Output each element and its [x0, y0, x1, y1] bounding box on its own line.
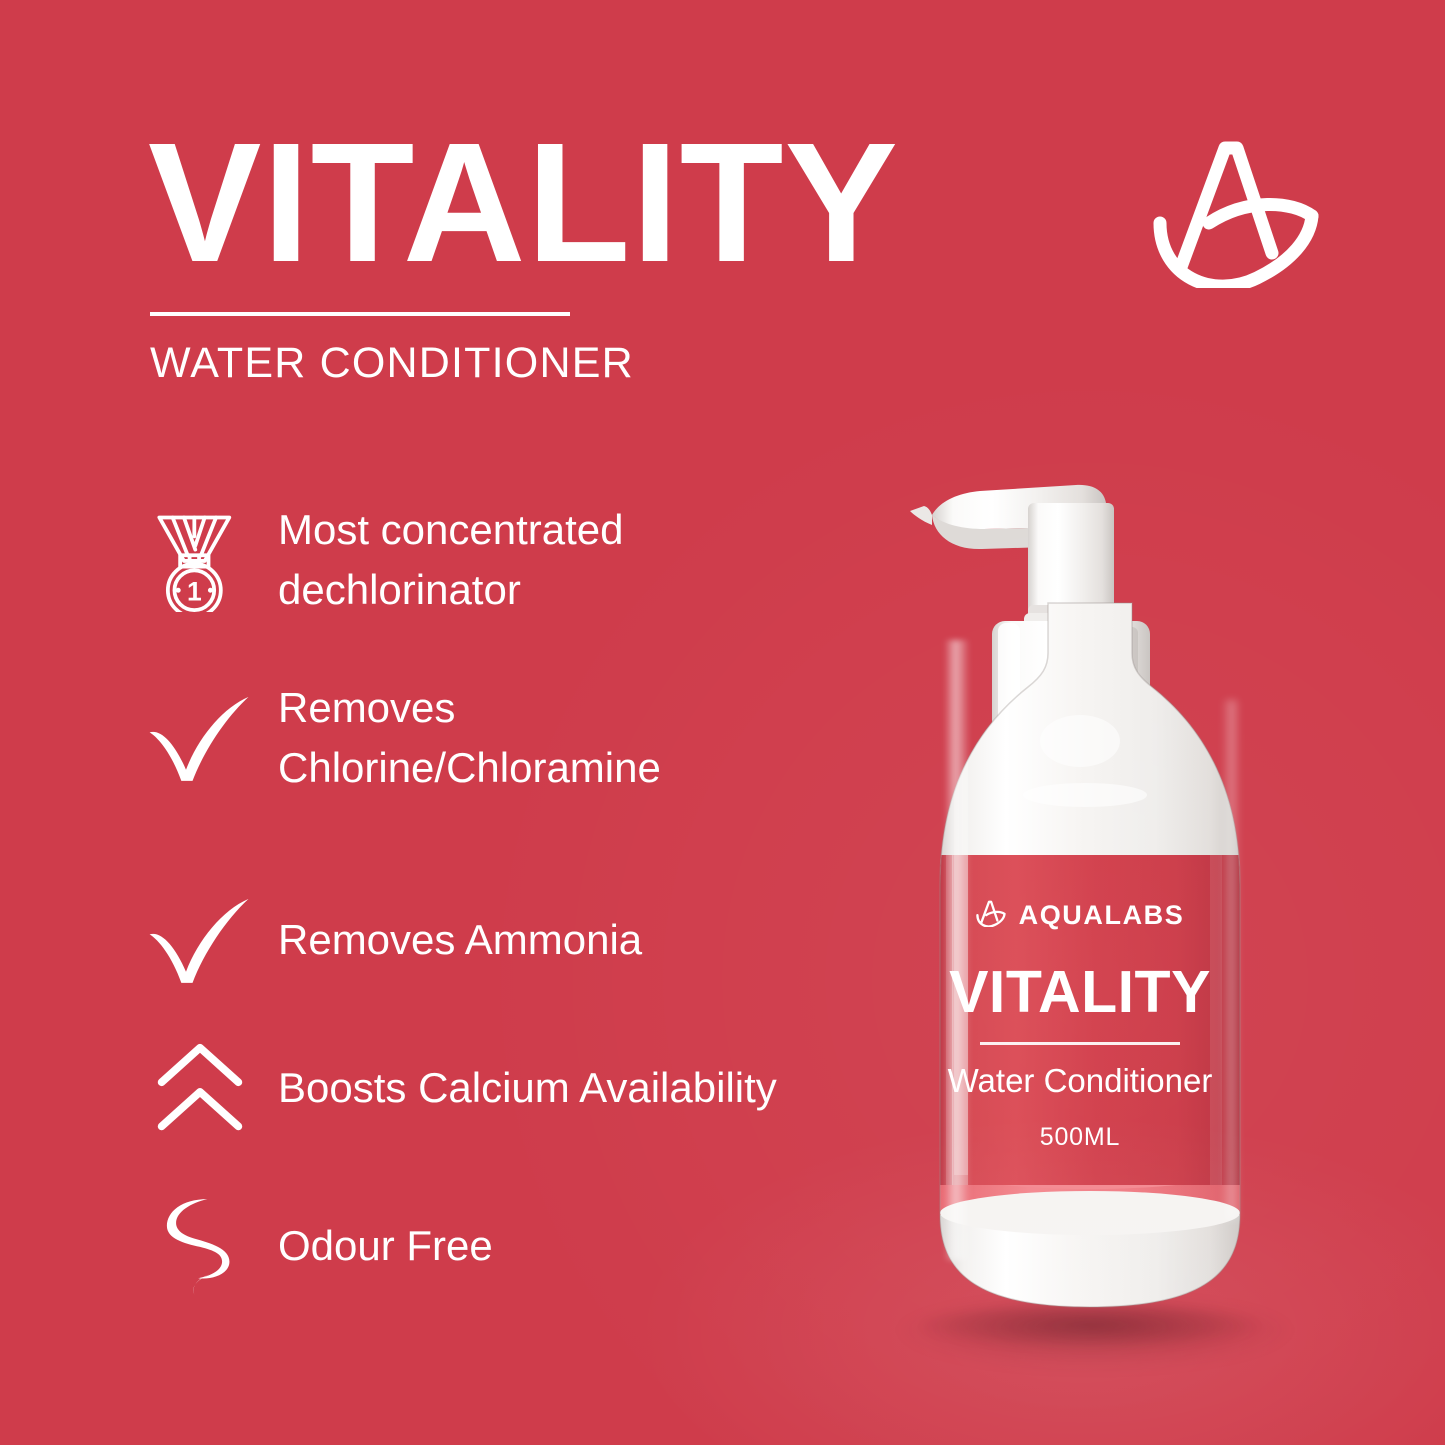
- feature-item: Removes Ammonia: [140, 880, 920, 1000]
- feature-item: Odour Free: [140, 1186, 920, 1306]
- page-title: VITALITY: [148, 118, 899, 288]
- aqualabs-a-logo-icon: [1152, 128, 1326, 288]
- feature-label-line: Most concentrated: [278, 500, 624, 560]
- double-chevron-up-icon: [140, 1028, 260, 1148]
- checkmark-icon: [140, 678, 260, 798]
- feature-item: Boosts Calcium Availability: [140, 1028, 920, 1148]
- feature-label: Most concentrated dechlorinator: [260, 500, 624, 619]
- product-bottle: [880, 455, 1300, 1355]
- checkmark-icon: [140, 880, 260, 1000]
- feature-label-line: Chlorine/Chloramine: [278, 738, 661, 798]
- page-subtitle: WATER CONDITIONER: [150, 342, 634, 385]
- svg-text:1: 1: [187, 577, 202, 607]
- medal-first-place-icon: 1: [140, 500, 260, 620]
- feature-label: Removes Ammonia: [260, 915, 642, 965]
- feature-item: 1 Most concentrated dechlorinator: [140, 500, 920, 620]
- feature-label: Boosts Calcium Availability: [260, 1063, 777, 1113]
- feature-label-line: Removes: [278, 678, 661, 738]
- feature-item: Removes Chlorine/Chloramine: [140, 678, 920, 798]
- feature-label-line: Removes Ammonia: [278, 915, 642, 965]
- feature-label: Removes Chlorine/Chloramine: [260, 678, 661, 797]
- title-divider: [150, 312, 570, 316]
- product-poster: VITALITY WATER CONDITIONER: [0, 0, 1445, 1445]
- feature-label: Odour Free: [260, 1221, 493, 1271]
- odour-smoke-wisp-icon: [140, 1186, 260, 1306]
- feature-label-line: dechlorinator: [278, 560, 624, 620]
- feature-label-line: Odour Free: [278, 1221, 493, 1271]
- feature-label-line: Boosts Calcium Availability: [278, 1063, 777, 1113]
